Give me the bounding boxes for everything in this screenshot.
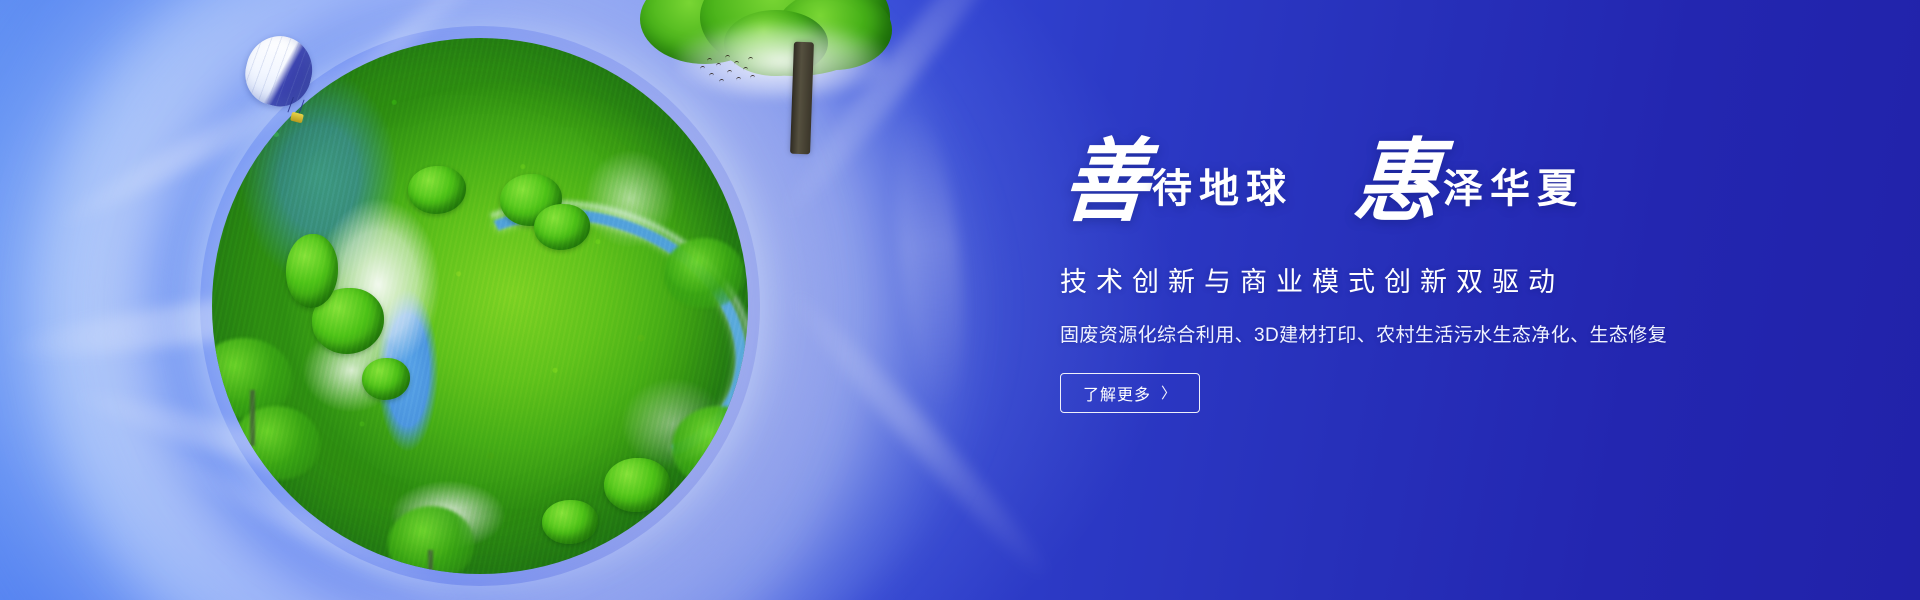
- headline-rest-right: 泽华夏: [1443, 169, 1584, 209]
- hot-air-balloon-icon: [246, 36, 316, 132]
- bird-icon: [736, 77, 741, 81]
- hero-copy-block: 善 待地球 惠 泽华夏 技术创新与商业模式创新双驱动 固废资源化综合利用、3D建…: [1060, 138, 1680, 413]
- bird-flock-icon: [700, 52, 756, 90]
- hero-banner: 善 待地球 惠 泽华夏 技术创新与商业模式创新双驱动 固废资源化综合利用、3D建…: [0, 0, 1920, 600]
- bird-icon: [734, 61, 739, 65]
- balloon-basket: [290, 112, 304, 124]
- bird-icon: [727, 70, 732, 74]
- chevron-right-icon: 〉: [1161, 386, 1177, 401]
- bird-icon: [716, 63, 721, 67]
- bird-icon: [748, 57, 753, 61]
- bird-icon: [719, 79, 724, 83]
- bird-icon: [743, 67, 748, 71]
- learn-more-button[interactable]: 了解更多 〉: [1060, 373, 1200, 413]
- rim-tree: [232, 406, 320, 480]
- rim-tree-trunk: [428, 550, 433, 574]
- river-highlight: [379, 158, 748, 518]
- tree-trunk: [790, 42, 814, 155]
- rim-tree: [664, 238, 744, 308]
- shrub-cluster: [500, 174, 562, 226]
- shrub-cluster: [312, 288, 384, 354]
- shrub-cluster: [362, 358, 410, 400]
- shrub-cluster: [542, 500, 598, 544]
- headline-emphasis-left: 善: [1060, 138, 1152, 228]
- cloud-wisp: [775, 276, 1065, 593]
- bird-icon: [700, 66, 705, 70]
- rim-tree: [672, 406, 748, 486]
- shrub-cluster: [286, 234, 338, 308]
- headline-emphasis-right: 惠: [1351, 138, 1443, 228]
- river-icon: [389, 168, 748, 508]
- page-title: 善 待地球 惠 泽华夏: [1060, 138, 1680, 244]
- bird-icon: [707, 58, 712, 62]
- headline-rest-left: 待地球: [1152, 169, 1293, 209]
- shrub-cluster: [534, 204, 590, 250]
- rim-tree: [388, 506, 474, 574]
- page-description: 固废资源化综合利用、3D建材打印、农村生活污水生态净化、生态修复: [1060, 320, 1680, 347]
- shrub-cluster: [604, 458, 670, 512]
- learn-more-label: 了解更多: [1083, 381, 1151, 405]
- page-subtitle: 技术创新与商业模式创新双驱动: [1060, 260, 1680, 299]
- rim-tree-trunk: [250, 390, 255, 446]
- cloud-wisp: [884, 108, 975, 413]
- rim-tree: [212, 338, 292, 418]
- hero-tree: [580, 0, 880, 184]
- bird-icon: [725, 55, 730, 59]
- balloon-envelope: [239, 29, 320, 113]
- bird-icon: [709, 73, 714, 77]
- bird-icon: [750, 75, 755, 79]
- shrub-cluster: [408, 166, 466, 214]
